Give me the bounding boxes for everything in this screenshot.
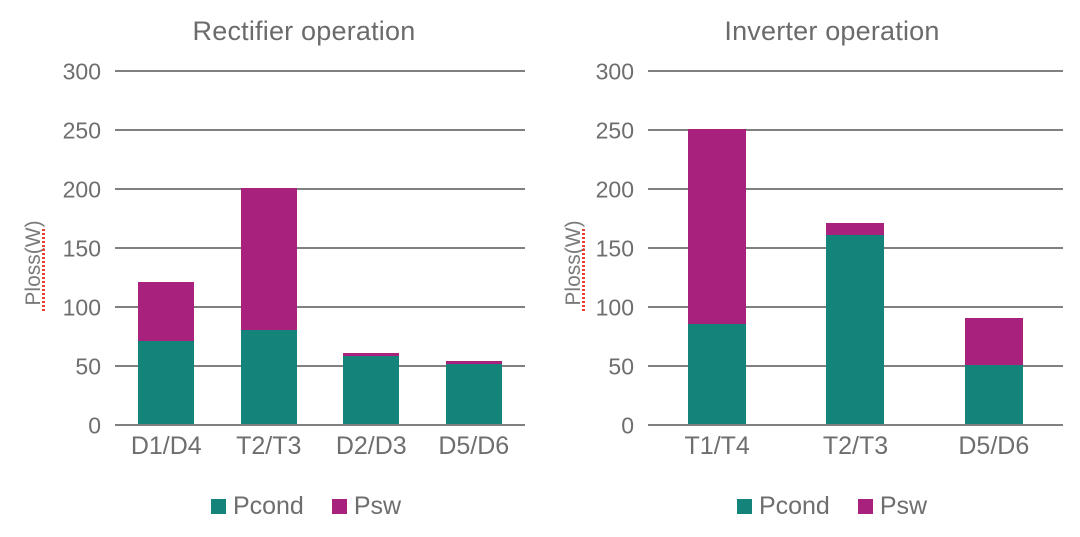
legend-inverter: Pcond Psw [540,492,1080,521]
y-tick-label: 250 [63,118,101,145]
bar-segment-psw [688,129,746,324]
x-axis-labels-rectifier: D1/D4 T2/T3 D2/D3 D5/D6 [115,432,525,461]
y-tick-label: 200 [63,177,101,204]
chart-panel-inverter: Inverter operation Ploss(W) 300 250 200 … [540,0,1080,537]
legend-swatch-icon [858,499,873,514]
stacked-bar[interactable] [241,188,297,424]
bar-segment-psw [965,318,1023,365]
bar-group [423,70,526,424]
legend-swatch-icon [211,499,226,514]
bar-segment-pcond [688,324,746,424]
y-tick-label: 300 [63,59,101,86]
x-tick-label: T2/T3 [218,432,321,461]
x-tick-label: D2/D3 [320,432,423,461]
bar-segment-psw [241,188,297,330]
legend-label: Pcond [233,492,304,521]
bar-group [320,70,423,424]
chart-panel-rectifier: Rectifier operation Ploss(W) 300 250 200… [0,0,540,537]
plot-area-inverter: 300 250 200 150 100 50 0 [648,70,1063,424]
y-tick-label: 150 [596,236,634,263]
y-tick-label: 100 [596,295,634,322]
x-tick-label: D5/D6 [423,432,526,461]
bar-series-inverter [648,70,1063,424]
legend-label: Psw [354,492,401,521]
bar-series-rectifier [115,70,525,424]
legend-swatch-icon [332,499,347,514]
stacked-bar-chart-figure: Rectifier operation Ploss(W) 300 250 200… [0,0,1080,537]
chart-title-inverter: Inverter operation [540,16,1080,47]
bar-segment-pcond [965,365,1023,424]
stacked-bar[interactable] [688,129,746,424]
gridline-0: 0 [648,424,1063,426]
y-tick-label: 300 [596,59,634,86]
bar-segment-pcond [826,235,884,424]
legend-label: Psw [880,492,927,521]
y-tick-label: 100 [63,295,101,322]
bar-group [786,70,924,424]
bar-group [218,70,321,424]
bar-segment-pcond [446,364,502,424]
stacked-bar[interactable] [138,282,194,424]
legend-label: Pcond [759,492,830,521]
y-axis-label-group-left: Ploss(W) [14,213,48,333]
bar-segment-pcond [138,341,194,424]
stacked-bar[interactable] [826,223,884,424]
y-tick-label: 200 [596,177,634,204]
y-tick-label: 50 [608,354,634,381]
y-tick-label: 150 [63,236,101,263]
y-tick-label: 250 [596,118,634,145]
legend-item-pcond[interactable]: Pcond [211,492,304,521]
x-axis-labels-inverter: T1/T4 T2/T3 D5/D6 [648,432,1063,461]
legend-item-pcond[interactable]: Pcond [737,492,830,521]
legend-item-psw[interactable]: Psw [858,492,927,521]
y-tick-label: 50 [75,354,101,381]
stacked-bar[interactable] [446,361,502,424]
bar-segment-pcond [343,356,399,424]
gridline-0: 0 [115,424,525,426]
bar-segment-psw [138,282,194,341]
y-tick-label: 0 [88,413,101,440]
legend-swatch-icon [737,499,752,514]
bar-group [925,70,1063,424]
chart-title-rectifier: Rectifier operation [0,16,574,47]
legend-rectifier: Pcond Psw [0,492,576,521]
bar-segment-psw [826,223,884,235]
bar-group [648,70,786,424]
stacked-bar[interactable] [343,353,399,424]
plot-area-rectifier: 300 250 200 150 100 50 0 [115,70,525,424]
x-tick-label: T2/T3 [786,432,924,461]
bar-segment-pcond [241,330,297,424]
bar-group [115,70,218,424]
spellcheck-squiggle-icon [582,229,585,313]
y-axis-label-group-right: Ploss(W) [554,213,588,333]
spellcheck-squiggle-icon [42,229,45,313]
y-tick-label: 0 [621,413,634,440]
stacked-bar[interactable] [965,318,1023,424]
x-tick-label: D1/D4 [115,432,218,461]
legend-item-psw[interactable]: Psw [332,492,401,521]
x-tick-label: D5/D6 [925,432,1063,461]
x-tick-label: T1/T4 [648,432,786,461]
